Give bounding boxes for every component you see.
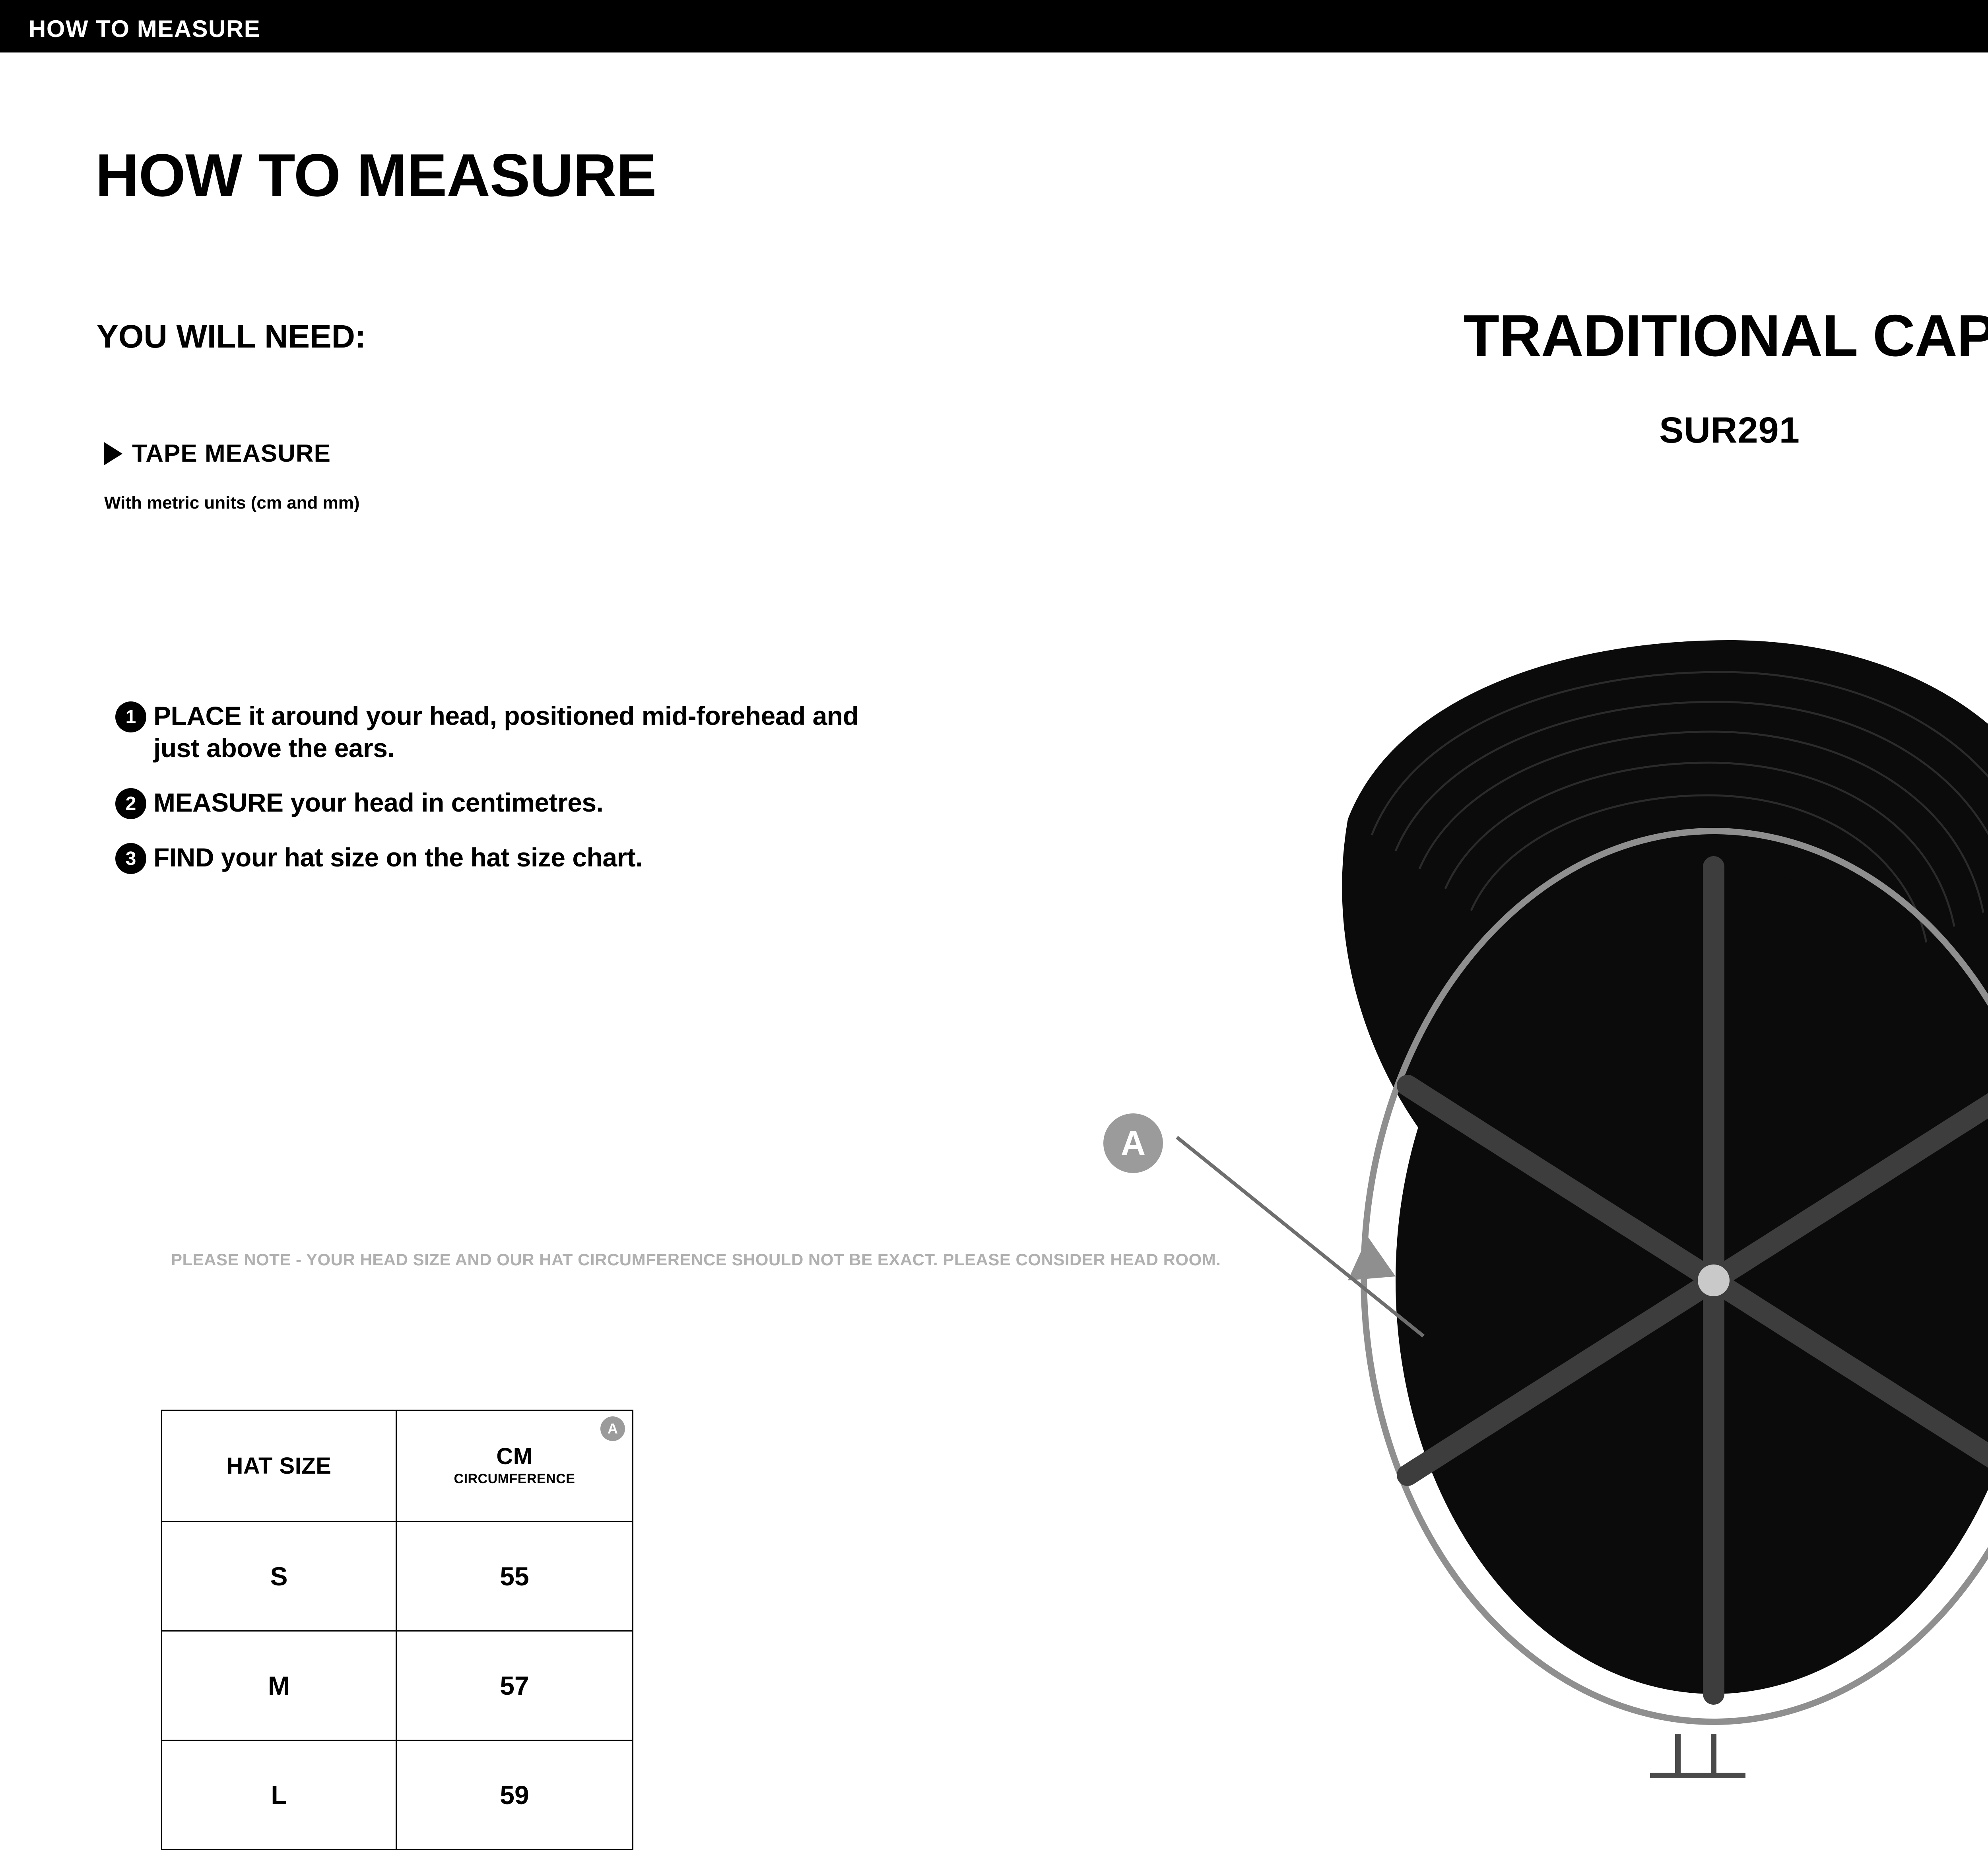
cell-hat-size: M <box>162 1631 396 1740</box>
you-will-need-heading: YOU WILL NEED: <box>97 318 366 355</box>
column-header-hat-size-label: HAT SIZE <box>163 1453 395 1479</box>
tape-measure-subtext: With metric units (cm and mm) <box>104 493 360 513</box>
table-row: M 57 <box>162 1631 633 1740</box>
measure-ticks <box>1650 1734 1745 1775</box>
table-header-row: HAT SIZE A CM CIRCUMFERENCE <box>162 1410 633 1522</box>
list-item: 3 FIND your hat size on the hat size cha… <box>115 841 871 874</box>
cell-cm: 59 <box>396 1740 633 1850</box>
column-header-circumference-label: CIRCUMFERENCE <box>397 1471 632 1487</box>
step-number: 2 <box>115 788 146 819</box>
column-header-cm: A CM CIRCUMFERENCE <box>396 1410 633 1522</box>
tape-measure-label: TAPE MEASURE <box>132 439 331 468</box>
column-header-hat-size: HAT SIZE <box>162 1410 396 1522</box>
cap-diagram <box>1093 565 1988 1845</box>
cell-cm: 55 <box>396 1522 633 1631</box>
list-item: 1 PLACE it around your head, positioned … <box>115 700 871 764</box>
steps-list: 1 PLACE it around your head, positioned … <box>115 700 871 896</box>
cell-hat-size: S <box>162 1522 396 1631</box>
please-note-text: PLEASE NOTE - YOUR HEAD SIZE AND OUR HAT… <box>171 1249 1221 1271</box>
leader-line <box>1177 1137 1423 1336</box>
triangle-bullet-icon <box>104 442 122 465</box>
table-row: L 59 <box>162 1740 633 1850</box>
table-row: S 55 <box>162 1522 633 1631</box>
step-text: PLACE it around your head, positioned mi… <box>153 700 871 764</box>
column-header-cm-label: CM <box>397 1445 632 1468</box>
cell-cm: 57 <box>396 1631 633 1740</box>
page-title: HOW TO MEASURE <box>95 145 656 206</box>
product-code: SUR291 <box>1233 410 1988 451</box>
step-number: 3 <box>115 843 146 874</box>
product-title: TRADITIONAL CAP <box>1233 302 1988 370</box>
badge-a-icon: A <box>600 1416 625 1441</box>
top-bar-title: HOW TO MEASURE <box>29 15 260 43</box>
list-item: 2 MEASURE your head in centimetres. <box>115 787 871 819</box>
cell-hat-size: L <box>162 1740 396 1850</box>
hat-size-table: HAT SIZE A CM CIRCUMFERENCE S 55 M 57 L … <box>161 1410 633 1850</box>
step-text: FIND your hat size on the hat size chart… <box>153 841 643 874</box>
badge-a-icon: A <box>1103 1113 1163 1173</box>
tape-measure-item: TAPE MEASURE <box>104 439 331 468</box>
top-bar: HOW TO MEASURE SS SURRIDGE <box>0 0 1988 52</box>
step-number: 1 <box>115 701 146 732</box>
step-text: MEASURE your head in centimetres. <box>153 787 603 819</box>
